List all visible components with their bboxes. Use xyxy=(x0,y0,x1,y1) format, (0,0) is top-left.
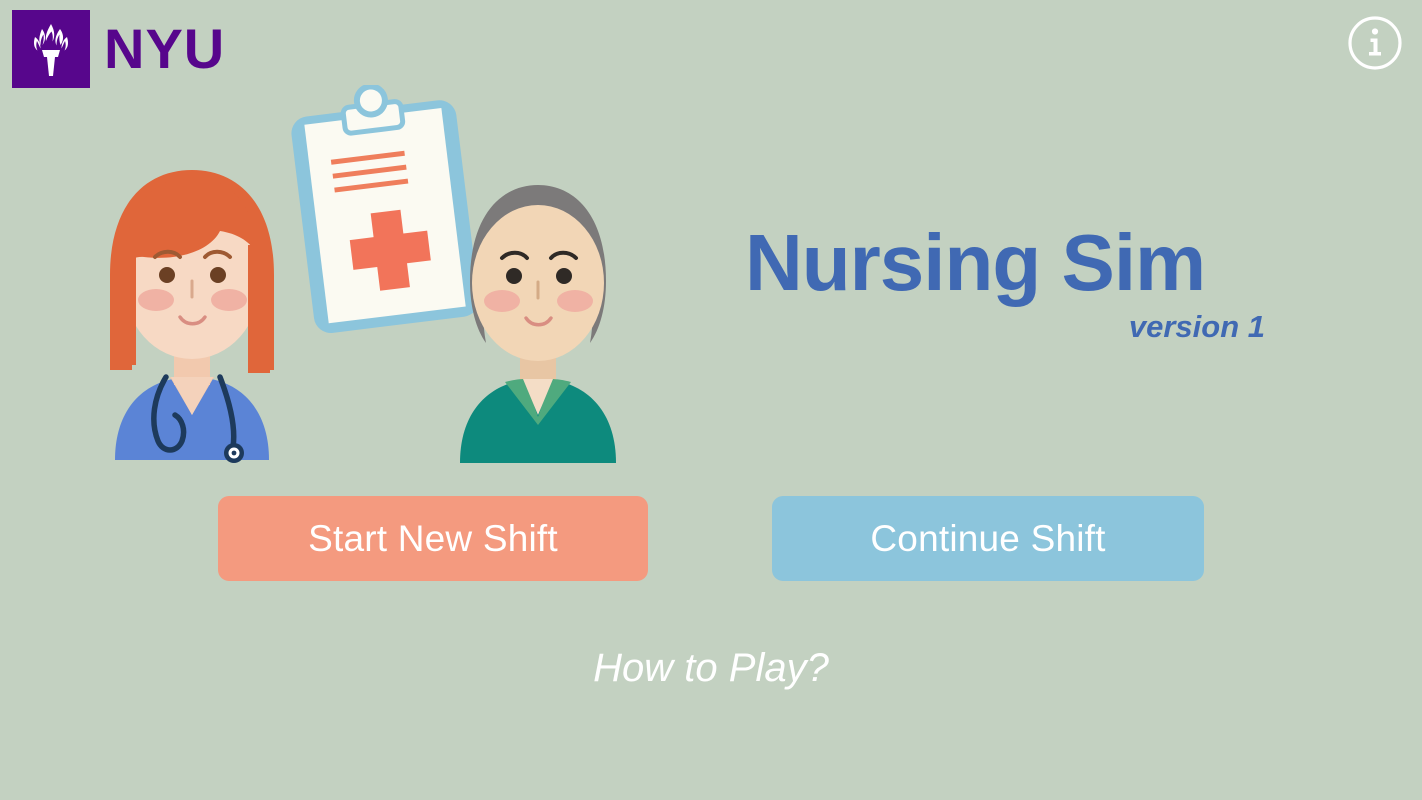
title-block: Nursing Sim version 1 xyxy=(745,225,1265,345)
version-label: version 1 xyxy=(745,309,1265,345)
clipboard-icon xyxy=(287,85,481,335)
nurse-character xyxy=(110,170,274,463)
continue-shift-button[interactable]: Continue Shift xyxy=(772,496,1204,581)
nyu-torch-icon xyxy=(12,10,90,88)
start-new-shift-button[interactable]: Start New Shift xyxy=(218,496,648,581)
how-to-play-label: How to Play? xyxy=(593,646,829,691)
info-icon[interactable] xyxy=(1346,14,1404,72)
characters-illustration xyxy=(70,85,690,475)
main-menu-screen: NYU xyxy=(0,0,1422,800)
nyu-logo: NYU xyxy=(12,10,225,88)
how-to-play-link[interactable]: How to Play? xyxy=(0,646,1422,691)
page-title: Nursing Sim xyxy=(745,225,1265,301)
patient-character xyxy=(460,185,616,463)
nyu-wordmark: NYU xyxy=(104,21,225,77)
